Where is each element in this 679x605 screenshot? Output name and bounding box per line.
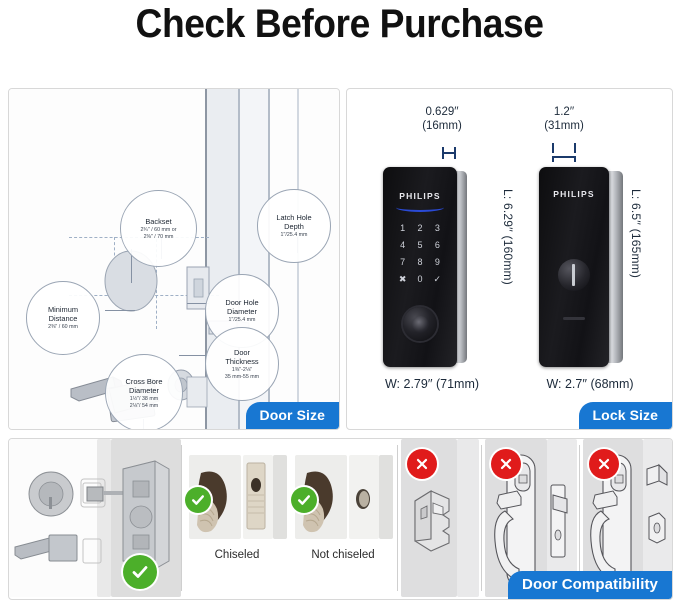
check-icon-chiseled bbox=[185, 487, 211, 513]
key-3[interactable]: 3 bbox=[429, 221, 446, 238]
key-4[interactable]: 4 bbox=[394, 238, 411, 255]
divider-4 bbox=[579, 445, 580, 591]
back-tick-bar bbox=[552, 156, 576, 158]
callout-latch-hole-depth: Latch Hole Depth 1"/25.4 mm bbox=[257, 189, 331, 263]
callout-thick-title1: Door bbox=[234, 348, 250, 357]
blue-accent-arc-front bbox=[396, 203, 444, 212]
callout-mindist-title2: Distance bbox=[49, 314, 78, 323]
callout-holedia-sub1: 1"/25.4 mm bbox=[229, 317, 256, 323]
callout-mindist-sub1: 2⅜" / 60 mm bbox=[48, 324, 78, 330]
back-tick-bar-r bbox=[574, 156, 576, 162]
divider-2 bbox=[397, 445, 398, 591]
back-tick-right bbox=[574, 143, 576, 153]
callout-mindist-title1: Minimum bbox=[48, 305, 78, 314]
cross-icon-handle-set-plate bbox=[491, 449, 521, 479]
callout-backset: Backset 2¾" / 60 mm or 2⅜" / 70 mm bbox=[120, 190, 197, 267]
back-length-label: L: 6.5′′ (165mm) bbox=[629, 189, 643, 278]
thumb-turn-knob[interactable] bbox=[558, 259, 590, 291]
key-9[interactable]: 9 bbox=[429, 255, 446, 272]
product-info-graphic: Check Before Purchase bbox=[0, 0, 679, 605]
cross-icon-handle-set-two-piece bbox=[589, 449, 619, 479]
key-star[interactable]: ✖ bbox=[394, 272, 411, 289]
key-check[interactable]: ✓ bbox=[429, 272, 446, 289]
leader-min-distance bbox=[105, 310, 135, 311]
key-2[interactable]: 2 bbox=[411, 221, 428, 238]
compat-item-chiseled: Chiseled bbox=[185, 439, 289, 597]
front-width-label: W: 2.79′′ (71mm) bbox=[357, 377, 507, 391]
front-length-label: L: 6.29′′ (160mm) bbox=[501, 189, 515, 285]
callout-thick-sub2: 35 mm-55 mm bbox=[225, 374, 259, 380]
page-title: Check Before Purchase bbox=[24, 2, 655, 47]
caption-not-chiseled: Not chiseled bbox=[291, 549, 395, 561]
callout-crossbore-title2: Diameter bbox=[129, 386, 159, 395]
fingerprint-sensor-icon[interactable] bbox=[403, 307, 437, 341]
callout-minimum-distance: Minimum Distance 2⅜" / 60 mm bbox=[26, 281, 100, 355]
front-body: PHILIPS 1 2 3 4 5 6 7 8 9 ✖ 0 ✓ bbox=[383, 167, 457, 367]
caption-chiseled: Chiseled bbox=[185, 549, 289, 561]
back-width-label: W: 2.7′′ (68mm) bbox=[515, 377, 665, 391]
callout-latch-sub1: 1"/25.4 mm bbox=[281, 232, 308, 238]
key-1[interactable]: 1 bbox=[394, 221, 411, 238]
panel-door-compatibility: Chiseled Not chiseled bbox=[8, 438, 673, 600]
front-top-dim-line2: (16mm) bbox=[395, 119, 489, 133]
back-top-dimension: 1.2′′ (31mm) bbox=[517, 105, 611, 133]
philips-logo-front: PHILIPS bbox=[383, 191, 457, 201]
front-top-dimension: 0.629′′ (16mm) bbox=[395, 105, 489, 133]
lock-front-unit: PHILIPS 1 2 3 4 5 6 7 8 9 ✖ 0 ✓ bbox=[375, 167, 495, 367]
key-8[interactable]: 8 bbox=[411, 255, 428, 272]
back-body: PHILIPS bbox=[539, 167, 609, 367]
key-0[interactable]: 0 bbox=[411, 272, 428, 289]
back-top-dim-line1: 1.2′′ bbox=[517, 105, 611, 119]
divider-3 bbox=[481, 445, 482, 591]
callout-crossbore-sub2: 2⅛"/ 54 mm bbox=[130, 403, 158, 409]
callout-cross-bore-diameter: Cross Bore Diameter 1½"/ 38 mm 2⅛"/ 54 m… bbox=[105, 354, 183, 430]
divider-1 bbox=[181, 445, 182, 591]
callout-backset-sub2: 2⅜" / 70 mm bbox=[144, 234, 174, 240]
leader-door-thickness bbox=[179, 355, 209, 356]
callout-thick-sub1: 1⅜"-2⅛" bbox=[232, 367, 252, 373]
compat-item-standard-deadbolt-door bbox=[9, 439, 181, 597]
callout-backset-title: Backset bbox=[145, 217, 171, 226]
cross-icon-mortise bbox=[407, 449, 437, 479]
callout-latch-title2: Depth bbox=[284, 222, 304, 231]
callout-door-thickness: Door Thickness 1⅜"-2⅛" 35 mm-55 mm bbox=[205, 327, 279, 401]
keypad[interactable]: 1 2 3 4 5 6 7 8 9 ✖ 0 ✓ bbox=[394, 221, 446, 289]
callout-crossbore-title1: Cross Bore bbox=[126, 377, 163, 386]
panel-door-size: Backset 2¾" / 60 mm or 2⅜" / 70 mm Latch… bbox=[8, 88, 340, 430]
callout-latch-title1: Latch Hole bbox=[276, 213, 311, 222]
callout-thick-title2: Thickness bbox=[225, 357, 258, 366]
badge-lock-size: Lock Size bbox=[579, 402, 672, 429]
key-7[interactable]: 7 bbox=[394, 255, 411, 272]
key-5[interactable]: 5 bbox=[411, 238, 428, 255]
back-vent-line bbox=[563, 317, 585, 320]
callout-backset-sub1: 2¾" / 60 mm or bbox=[140, 227, 176, 233]
badge-door-compatibility: Door Compatibility bbox=[508, 571, 672, 599]
panel-lock-size: 0.629′′ (16mm) 1.2′′ (31mm) PHILIPS 1 2 bbox=[346, 88, 673, 430]
front-tick-bar bbox=[442, 152, 456, 154]
check-icon-not-chiseled bbox=[291, 487, 317, 513]
compat-item-mortise-lock bbox=[401, 439, 479, 597]
philips-logo-back: PHILIPS bbox=[539, 189, 609, 199]
check-icon-standard-door bbox=[123, 555, 157, 589]
callout-crossbore-sub1: 1½"/ 38 mm bbox=[130, 396, 158, 402]
back-tick-left bbox=[552, 143, 554, 153]
front-top-dim-line1: 0.629′′ bbox=[395, 105, 489, 119]
callout-holedia-title1: Door Hole bbox=[225, 298, 258, 307]
callout-holedia-title2: Diameter bbox=[227, 307, 257, 316]
badge-door-size: Door Size bbox=[246, 402, 339, 429]
key-6[interactable]: 6 bbox=[429, 238, 446, 255]
back-top-dim-line2: (31mm) bbox=[517, 119, 611, 133]
back-tick-bar-l bbox=[552, 156, 554, 162]
compat-item-not-chiseled: Not chiseled bbox=[291, 439, 395, 597]
